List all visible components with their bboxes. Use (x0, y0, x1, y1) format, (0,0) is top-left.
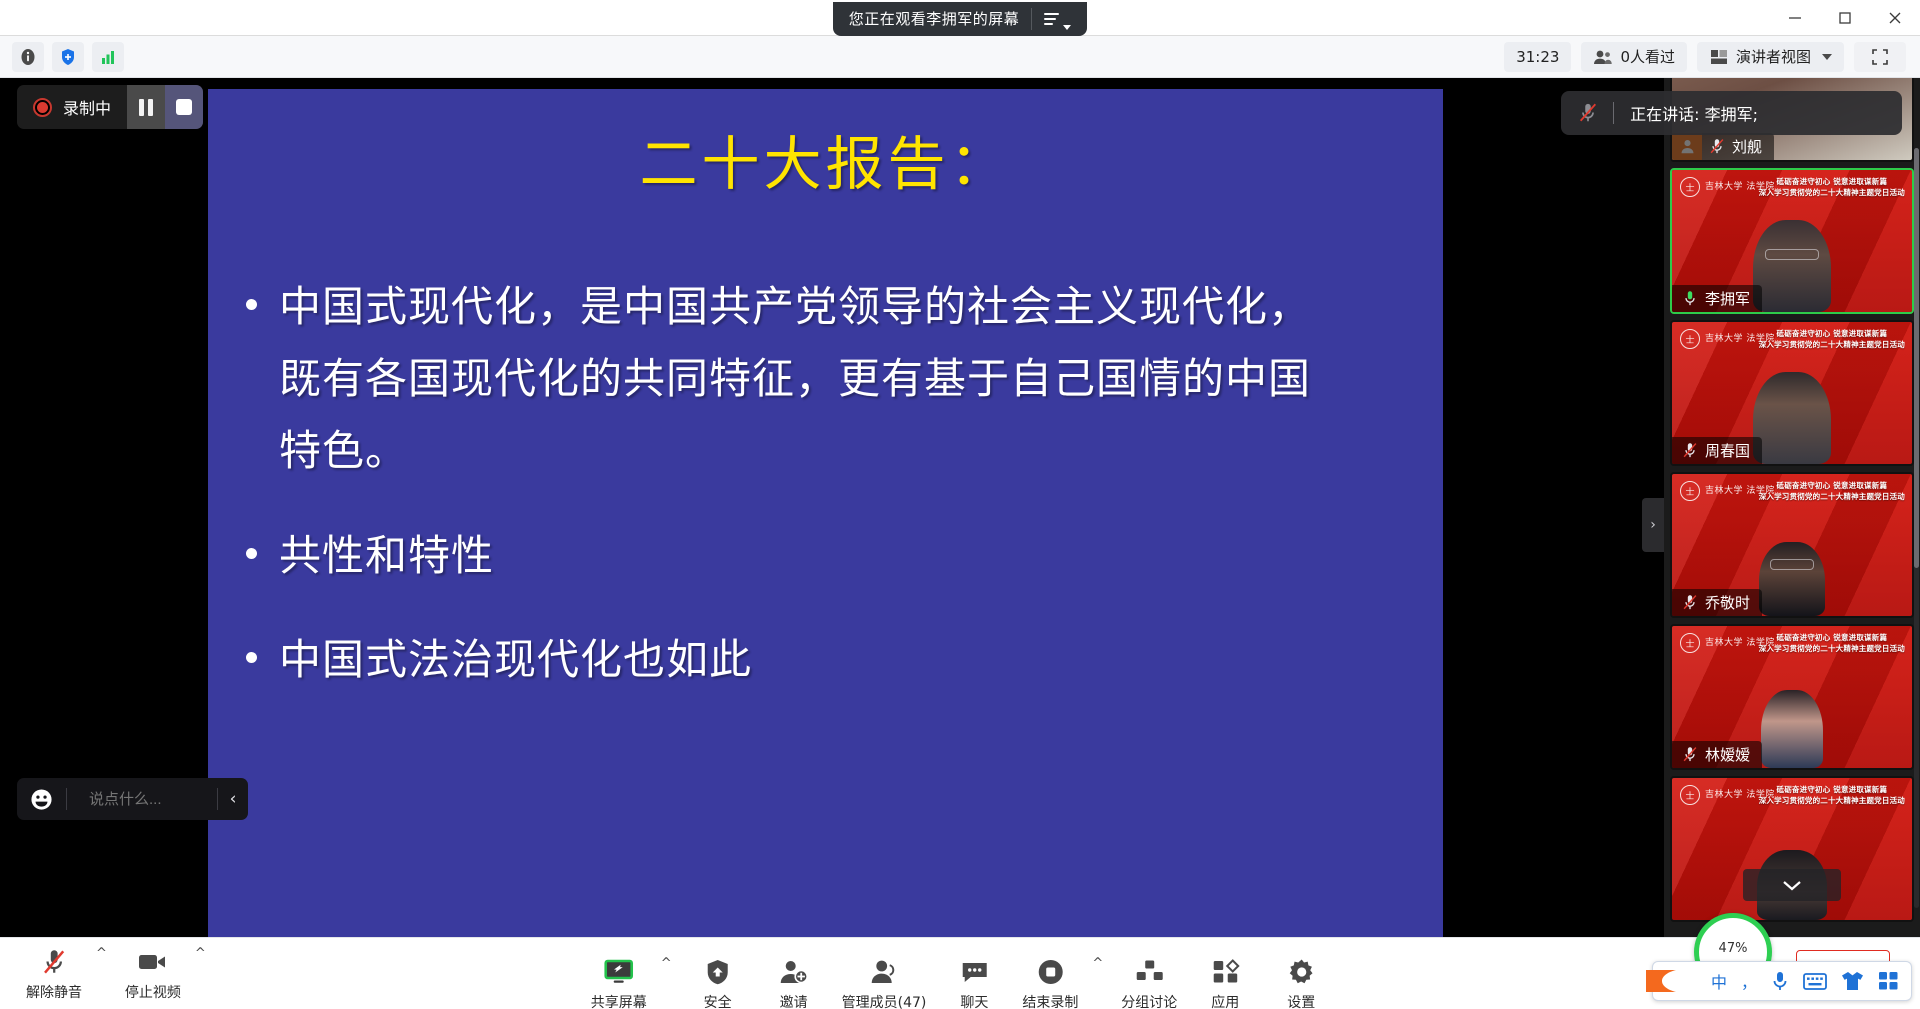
share-screen-label: 共享屏幕 (591, 992, 647, 1009)
apps-label: 应用 (1211, 992, 1239, 1009)
share-screen-button[interactable]: 共享屏幕 (581, 948, 657, 1009)
banner-line-2: 深入学习贯彻党的二十大精神主题党日活动 (1759, 188, 1905, 199)
virtual-background-banner: 砥砺奋进守初心 锐意进取谋新篇 深入学习贯彻党的二十大精神主题党日活动 (1759, 177, 1905, 199)
shield-security-icon[interactable] (52, 42, 84, 72)
apps-button[interactable]: 应用 (1187, 948, 1263, 1009)
chevron-down-icon (1822, 54, 1832, 60)
virtual-background-banner: 砥砺奋进守初心 锐意进取谋新篇 深入学习贯彻党的二十大精神主题党日活动 (1759, 481, 1905, 503)
banner-line-2: 深入学习贯彻党的二十大精神主题党日活动 (1759, 644, 1905, 655)
slide-bullet-list: 中国式现代化，是中国共产党领导的社会主义现代化，既有各国现代化的共同特征，更有基… (246, 271, 1443, 696)
banner-line-1: 砥砺奋进守初心 锐意进取谋新篇 (1759, 481, 1905, 492)
zoom-meeting-window: 您正在观看李拥军的屏幕 (0, 0, 1920, 1009)
sharing-banner-text: 您正在观看李拥军的屏幕 (849, 8, 1032, 29)
university-seal-icon: 士 (1680, 177, 1700, 197)
chat-label: 聊天 (960, 992, 988, 1009)
view-mode-label: 演讲者视图 (1736, 46, 1811, 67)
window-controls (1770, 0, 1920, 36)
share-options-caret[interactable]: ^ (653, 928, 680, 1000)
breakout-rooms-label: 分组讨论 (1121, 992, 1177, 1009)
participant-name-bar: 林嫒嫒 (1672, 741, 1762, 768)
unmute-label: 解除静音 (26, 982, 82, 1002)
glasses (1765, 249, 1819, 260)
sogou-logo-icon[interactable] (1635, 958, 1691, 1004)
recording-status: 录制中 (17, 85, 127, 129)
speaker-view-icon (1709, 48, 1729, 66)
person-silhouette (1753, 220, 1831, 312)
quick-chat-input[interactable] (67, 791, 217, 808)
stop-icon (176, 99, 192, 115)
invite-label: 邀请 (780, 992, 808, 1009)
filmstrip-scrollbar[interactable] (1914, 148, 1919, 908)
stop-recording-button-overlay[interactable] (165, 85, 203, 129)
participant-name-bar: 乔敬时 (1672, 589, 1762, 616)
stop-video-label: 停止视频 (125, 982, 181, 1002)
network-percent-value: 47 (1719, 941, 1736, 956)
banner-line-1: 砥砺奋进守初心 锐意进取谋新篇 (1759, 177, 1905, 188)
statistics-bars-icon[interactable] (92, 42, 124, 72)
stop-recording-label: 结束录制 (1022, 992, 1078, 1009)
chat-button[interactable]: 聊天 (936, 948, 1012, 1009)
banner-line-1: 砥砺奋进守初心 锐意进取谋新篇 (1759, 785, 1905, 796)
slide-bullet-item: 中国式法治现代化也如此 (246, 624, 1443, 696)
recording-indicator: 录制中 (17, 85, 203, 129)
ime-punctuation-toggle[interactable]: ， (1741, 969, 1757, 993)
hamburger-lines-icon (1044, 13, 1059, 25)
sharing-banner: 您正在观看李拥军的屏幕 (833, 2, 1088, 36)
meeting-info-toolbar: 31:23 0人看过 演讲者视图 (0, 36, 1920, 78)
toolbox-grid-icon[interactable] (1878, 971, 1899, 991)
banner-line-1: 砥砺奋进守初心 锐意进取谋新篇 (1759, 633, 1905, 644)
gear-icon (1287, 957, 1315, 987)
slide-bullet-item: 共性和特性 (246, 520, 1443, 592)
mic-muted-icon (1561, 101, 1613, 125)
filmstrip-scrollbar-thumb[interactable] (1914, 148, 1919, 568)
fullscreen-button[interactable] (1854, 42, 1906, 72)
recording-options-caret[interactable]: ^ (1084, 928, 1111, 1000)
quick-chat-bar: ‹ (17, 778, 248, 820)
mic-muted-icon (1681, 441, 1699, 460)
active-speaker-banner: 正在讲话: 李拥军; (1561, 91, 1902, 135)
breakout-rooms-button[interactable]: 分组讨论 (1111, 948, 1187, 1009)
toolbar-center-group: 共享屏幕 ^ 安全 邀请 管理成员(47) (581, 928, 1340, 1009)
camera-icon (137, 947, 169, 977)
security-label: 安全 (704, 992, 732, 1009)
chevron-down-icon (1063, 25, 1071, 30)
filmstrip-scroll-down-button[interactable] (1743, 869, 1841, 901)
university-seal-icon: 士 (1680, 633, 1700, 653)
stop-video-button[interactable]: 停止视频 (115, 938, 191, 1009)
ime-toolbar: 中 ， (1652, 961, 1912, 1001)
slide-bullet-text: 中国式法治现代化也如此 (279, 624, 752, 696)
mic-muted-icon (1681, 593, 1699, 612)
collapse-panel-button[interactable]: › (1642, 498, 1664, 552)
maximize-button[interactable] (1820, 0, 1870, 36)
minimize-button[interactable] (1770, 0, 1820, 36)
participant-filmstrip[interactable]: 刘舰 士 吉林大学 法学院 砥砺奋进守初心 锐意进取谋新篇 深入学习贯彻党的二十… (1664, 78, 1920, 937)
university-seal-icon: 士 (1680, 785, 1700, 805)
banner-line-2: 深入学习贯彻党的二十大精神主题党日活动 (1759, 340, 1905, 351)
banner-line-2: 深入学习贯彻党的二十大精神主题党日活动 (1759, 492, 1905, 503)
info-icon[interactable] (12, 42, 44, 72)
virtual-background-banner: 砥砺奋进守初心 锐意进取谋新篇 深入学习贯彻党的二十大精神主题党日活动 (1759, 633, 1905, 655)
person-silhouette (1759, 542, 1825, 616)
person-silhouette (1753, 372, 1831, 464)
invite-button[interactable]: 邀请 (756, 948, 832, 1009)
mic-unmuted-icon (1681, 289, 1699, 308)
microphone-icon[interactable] (1771, 970, 1789, 992)
apps-icon (1211, 957, 1239, 987)
slide-bullet-item: 中国式现代化，是中国共产党领导的社会主义现代化，既有各国现代化的共同特征，更有基… (246, 271, 1443, 488)
participant-name-bar: 周春国 (1672, 437, 1762, 464)
ime-language-toggle[interactable]: 中 (1711, 969, 1727, 993)
chevron-down-icon (1779, 878, 1805, 892)
stop-recording-button[interactable]: 结束录制 (1012, 948, 1088, 1009)
keyboard-icon[interactable] (1803, 972, 1827, 991)
university-seal-icon: 士 (1680, 481, 1700, 501)
manage-participants-label: 管理成员(47) (842, 992, 927, 1009)
emoji-smiley-icon[interactable] (17, 788, 66, 811)
viewers-count-button[interactable]: 0人看过 (1581, 42, 1687, 72)
people-icon (1593, 49, 1613, 65)
slide-bullet-text: 共性和特性 (279, 520, 494, 592)
toolbar-right-controls: 31:23 0人看过 演讲者视图 (1504, 42, 1920, 72)
participants-icon (869, 957, 899, 987)
slide-bullet-text: 中国式现代化，是中国共产党领导的社会主义现代化，既有各国现代化的共同特征，更有基… (279, 271, 1319, 488)
participant-name: 刘舰 (1732, 136, 1762, 157)
participant-name: 周春国 (1705, 440, 1750, 461)
slide-title: 二十大报告： (208, 117, 1443, 201)
security-button[interactable]: 安全 (680, 948, 756, 1009)
participant-tile[interactable]: 士 吉林大学 法学院 砥砺奋进守初心 锐意进取谋新篇 深入学习贯彻党的二十大精神… (1670, 472, 1914, 618)
mic-muted-icon (1681, 745, 1699, 764)
mic-muted-icon (39, 947, 69, 977)
bullet-dot-icon (246, 548, 257, 559)
virtual-background-banner: 砥砺奋进守初心 锐意进取谋新篇 深入学习贯彻党的二十大精神主题党日活动 (1759, 785, 1905, 807)
participant-name: 乔敬时 (1705, 592, 1750, 613)
shield-icon (704, 957, 732, 987)
active-speaker-text: 正在讲话: 李拥军; (1614, 101, 1772, 125)
person-silhouette (1761, 690, 1823, 768)
settings-label: 设置 (1287, 992, 1315, 1009)
university-seal-icon: 士 (1680, 329, 1700, 349)
participant-tile[interactable]: 士 吉林大学 法学院 砥砺奋进守初心 锐意进取谋新篇 深入学习贯彻党的二十大精神… (1670, 320, 1914, 466)
meeting-timer-value: 31:23 (1516, 48, 1559, 66)
bullet-dot-icon (246, 299, 257, 310)
meeting-timer: 31:23 (1504, 42, 1571, 72)
bullet-dot-icon (246, 652, 257, 663)
participant-name: 林嫒嫒 (1705, 744, 1750, 765)
chat-bubble-icon (960, 957, 988, 987)
record-dot-icon (33, 98, 52, 117)
participant-name: 李拥军 (1705, 288, 1750, 309)
add-person-icon (779, 957, 809, 987)
pause-recording-button[interactable] (127, 85, 165, 129)
toolbar-left-group: 解除静音 ^ 停止视频 ^ (0, 938, 214, 1009)
window-title-bar: 您正在观看李拥军的屏幕 (0, 0, 1920, 36)
meeting-stage: 二十大报告： 中国式现代化，是中国共产党领导的社会主义现代化，既有各国现代化的共… (0, 78, 1920, 937)
breakout-rooms-icon (1135, 957, 1163, 987)
viewers-count-label: 0人看过 (1620, 46, 1675, 67)
glasses (1770, 559, 1814, 570)
view-mode-button[interactable]: 演讲者视图 (1697, 42, 1844, 72)
participant-tile-active[interactable]: 士 吉林大学 法学院 砥砺奋进守初心 锐意进取谋新篇 深入学习贯彻党的二十大精神… (1670, 168, 1914, 314)
chevron-left-icon[interactable]: ‹ (218, 778, 248, 820)
virtual-background-banner: 砥砺奋进守初心 锐意进取谋新篇 深入学习贯彻党的二十大精神主题党日活动 (1759, 329, 1905, 351)
unmute-button[interactable]: 解除静音 (16, 938, 92, 1009)
pause-icon (139, 99, 153, 116)
banner-line-2: 深入学习贯彻党的二十大精神主题党日活动 (1759, 796, 1905, 807)
toolbar-left-icons (0, 42, 124, 72)
shared-screen-slide[interactable]: 二十大报告： 中国式现代化，是中国共产党领导的社会主义现代化，既有各国现代化的共… (208, 89, 1443, 937)
fullscreen-icon (1870, 47, 1890, 67)
participant-tile[interactable]: 士 吉林大学 法学院 砥砺奋进守初心 锐意进取谋新篇 深入学习贯彻党的二十大精神… (1670, 624, 1914, 770)
banner-line-1: 砥砺奋进守初心 锐意进取谋新篇 (1759, 329, 1905, 340)
settings-button[interactable]: 设置 (1263, 948, 1339, 1009)
mic-muted-icon (1708, 137, 1726, 156)
percent-symbol: % (1735, 941, 1747, 956)
participant-name-bar: 李拥军 (1672, 285, 1762, 312)
audio-options-caret[interactable]: ^ (88, 918, 115, 990)
manage-participants-button[interactable]: 管理成员(47) (832, 948, 937, 1009)
participant-name-bar: 刘舰 (1672, 133, 1774, 160)
share-screen-icon (603, 957, 635, 987)
list-menu-icon[interactable] (1031, 8, 1081, 30)
recording-label: 录制中 (63, 95, 111, 119)
video-options-caret[interactable]: ^ (187, 918, 214, 990)
close-button[interactable] (1870, 0, 1920, 36)
stop-record-icon (1036, 957, 1064, 987)
network-percent: 47% (1719, 931, 1748, 956)
skin-shirt-icon[interactable] (1841, 971, 1864, 991)
meeting-controls-toolbar: 解除静音 ^ 停止视频 ^ 共享屏幕 ^ (0, 937, 1920, 1009)
